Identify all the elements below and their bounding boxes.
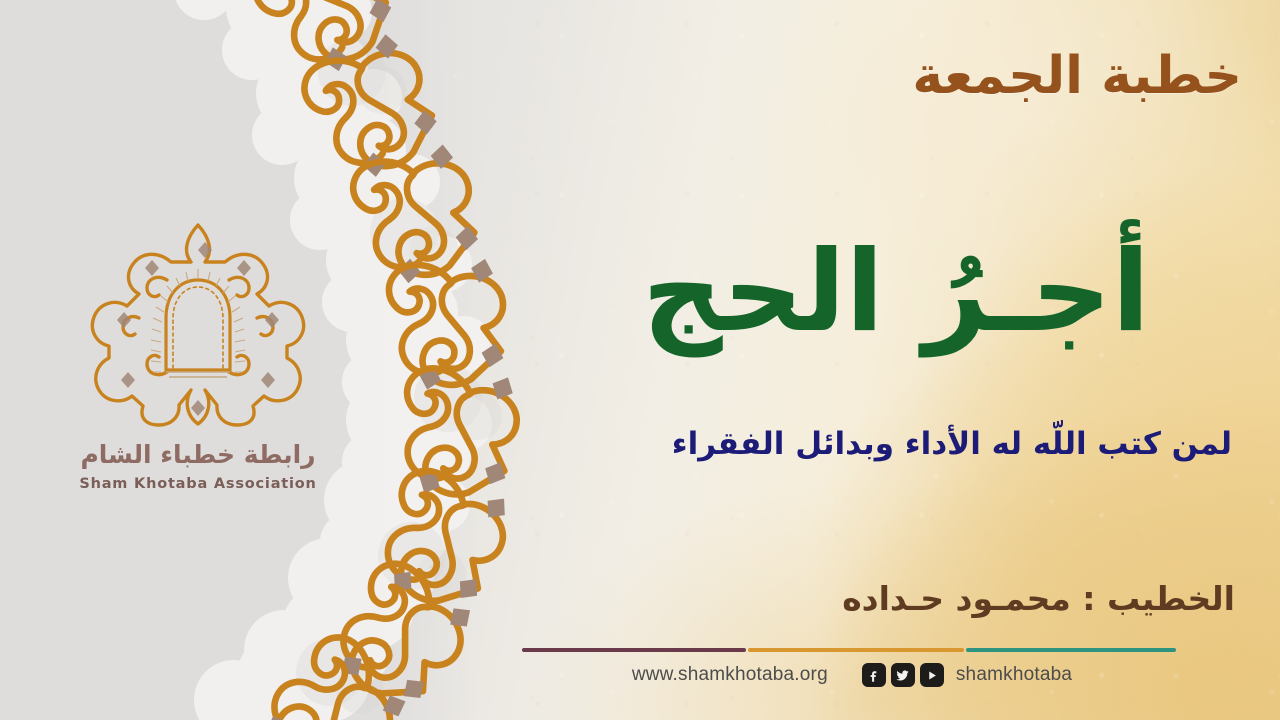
sermon-category-label: خطبة الجمعة (912, 48, 1242, 105)
sermon-subtitle: لمن كتب اللّه له الأداء وبدائل الفقراء (672, 424, 1232, 464)
slide-canvas: رابطة خطباء الشام Sham Khotaba Associati… (0, 0, 1280, 720)
footer-rule-orange (748, 648, 964, 652)
footer-rule-teal (966, 648, 1176, 652)
social-links (862, 663, 944, 687)
logo-name-english: Sham Khotaba Association (68, 476, 328, 492)
footer-rule-maroon (522, 648, 746, 652)
speaker-name-line: الخطيب : محمـود حـداده (842, 578, 1235, 619)
sermon-title: أجـرُ الحج (642, 222, 1150, 362)
youtube-icon[interactable] (920, 663, 944, 687)
brand-logo: رابطة خطباء الشام Sham Khotaba Associati… (68, 222, 328, 492)
facebook-icon[interactable] (862, 663, 886, 687)
social-handle[interactable]: shamkhotaba (956, 664, 1072, 686)
logo-name-arabic: رابطة خطباء الشام (68, 441, 328, 469)
footer-bar: www.shamkhotaba.org shamkhotaba (522, 658, 1182, 692)
twitter-icon[interactable] (891, 663, 915, 687)
website-url[interactable]: www.shamkhotaba.org (632, 664, 828, 686)
mihrab-arch-star-icon (87, 222, 309, 427)
